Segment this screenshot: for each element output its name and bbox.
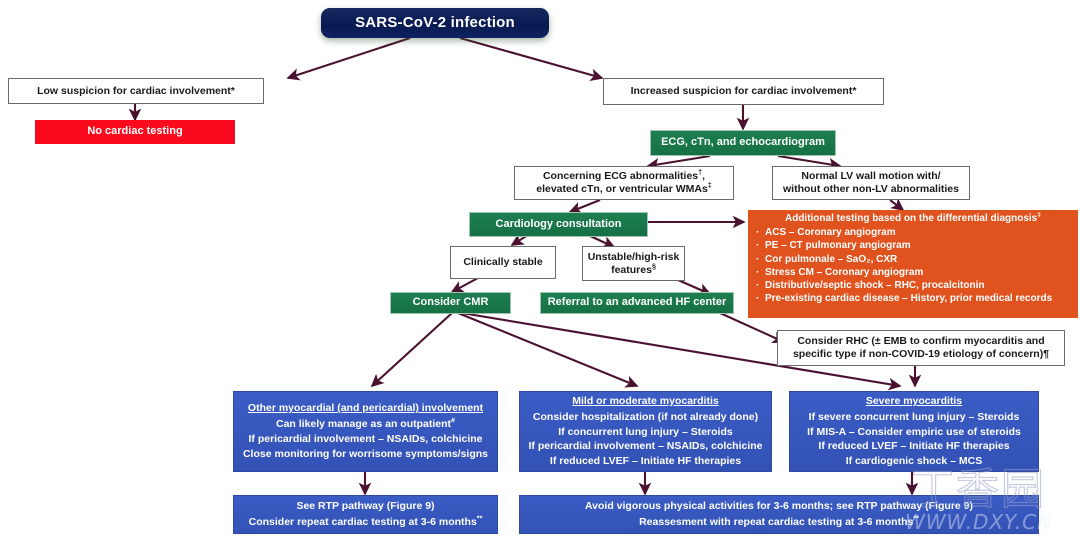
node-label-line2: If pericardial involvement – NSAIDs, col… [238,432,493,447]
arrow-stable-to-cmr [452,278,478,292]
node-unstable-high-risk-features[interactable]: Unstable/high-risk features§ [582,246,685,281]
node-additional-testing[interactable]: Additional testing based on the differen… [748,210,1078,318]
node-low-suspicion[interactable]: Low suspicion for cardiac involvement* [8,78,264,104]
node-label-line2: If MIS-A – Consider empiric use of stero… [794,425,1034,440]
node-label-line1: Can likely manage as an outpatient# [238,417,493,432]
node-label: No cardiac testing [35,125,235,138]
additional-testing-list: ACS – Coronary angiogram PE – CT pulmona… [754,226,1072,306]
node-label: Referral to an advanced HF center [541,296,733,309]
list-item: PE – CT pulmonary angiogram [756,239,1072,252]
node-rtp-pathway-right[interactable]: Avoid vigorous physical activities for 3… [519,495,1039,534]
node-concerning-ecg-abnormalities[interactable]: Concerning ECG abnormalities†, elevated … [514,166,734,200]
node-label-line2: Reassesment with repeat cardiac testing … [520,515,1038,531]
node-severe-myocarditis[interactable]: Severe myocarditis If severe concurrent … [789,391,1039,472]
node-label: Clinically stable [451,256,555,269]
node-label-line3: If pericardial involvement – NSAIDs, col… [524,439,767,454]
node-label-line1: Concerning ECG abnormalities†, [515,170,733,183]
arrow-ecg-to-concerning [648,156,710,166]
node-ecg-ctn-echo[interactable]: ECG, cTn, and echocardiogram [650,130,836,156]
arrow-ecg-to-normallv [778,156,840,166]
node-other-myocardial-involvement[interactable]: Other myocardial (and pericardial) invol… [233,391,498,472]
node-normal-lv-wall-motion[interactable]: Normal LV wall motion with/ without othe… [772,166,970,200]
node-mild-or-moderate-myocarditis[interactable]: Mild or moderate myocarditis Consider ho… [519,391,772,472]
node-no-cardiac-testing[interactable]: No cardiac testing [35,120,235,144]
node-label: Increased suspicion for cardiac involvem… [604,85,883,98]
node-label-line1: See RTP pathway (Figure 9) [234,499,497,515]
node-header: Other myocardial (and pericardial) invol… [238,401,493,416]
arrow-root-to-increased [460,38,602,78]
node-sars-cov-2-infection[interactable]: SARS-CoV-2 infection [321,8,549,38]
list-item: Cor pulmonale – SaO₂, CXR [756,253,1072,266]
node-clinically-stable[interactable]: Clinically stable [450,246,556,279]
node-label: Consider CMR [391,296,510,309]
node-consider-rhc-emb[interactable]: Consider RHC (± EMB to confirm myocardit… [777,330,1065,366]
node-label-line4: If cardiogenic shock – MCS [794,454,1034,469]
node-cardiology-consultation[interactable]: Cardiology consultation [469,212,648,237]
node-label-line2: elevated cTn, or ventricular WMAs‡ [515,183,733,196]
node-label-line2: without other non-LV abnormalities [773,183,969,196]
arrow-concerning-to-cardiology [570,200,600,212]
node-consider-cmr[interactable]: Consider CMR [390,292,511,314]
node-label-line1: Normal LV wall motion with/ [773,170,969,183]
arrow-cmr-to-other [372,313,452,386]
additional-testing-header: Additional testing based on the differen… [754,213,1072,225]
node-label-line1: Unstable/high-risk [583,251,684,264]
node-label: Cardiology consultation [470,218,647,231]
node-label-line1: Consider hospitalization (if not already… [524,410,767,425]
node-rtp-pathway-left[interactable]: See RTP pathway (Figure 9) Consider repe… [233,495,498,534]
node-label-line2: If concurrent lung injury – Steroids [524,425,767,440]
arrow-cmr-to-mild [458,313,637,386]
node-label-line2: specific type if non-COVID-19 etiology o… [778,348,1064,361]
arrow-normallv-to-additional [890,200,903,210]
node-label: ECG, cTn, and echocardiogram [651,136,835,149]
flowchart-canvas: SARS-CoV-2 infection Low suspicion for c… [0,0,1080,538]
list-item: Stress CM – Coronary angiogram [756,266,1072,279]
list-item: Pre-existing cardiac disease – History, … [756,292,1072,305]
node-label-line3: Close monitoring for worrisome symptoms/… [238,447,493,462]
node-label-line3: If reduced LVEF – Initiate HF therapies [794,439,1034,454]
arrow-root-to-low [288,38,410,78]
node-increased-suspicion[interactable]: Increased suspicion for cardiac involvem… [603,78,884,105]
node-label-line2: Consider repeat cardiac testing at 3-6 m… [234,515,497,531]
node-label: Low suspicion for cardiac involvement* [9,85,263,98]
list-item: ACS – Coronary angiogram [756,226,1072,239]
node-label-line1: Consider RHC (± EMB to confirm myocardit… [778,335,1064,348]
node-label-line1: Avoid vigorous physical activities for 3… [520,499,1038,515]
node-label-line2: features§ [583,264,684,277]
node-label: SARS-CoV-2 infection [321,14,549,32]
node-label-line1: If severe concurrent lung injury – Stero… [794,410,1034,425]
node-referral-advanced-hf-center[interactable]: Referral to an advanced HF center [540,292,734,314]
node-header: Mild or moderate myocarditis [524,394,767,409]
node-header: Severe myocarditis [794,394,1034,409]
list-item: Distributive/septic shock – RHC, procalc… [756,279,1072,292]
node-label-line4: If reduced LVEF – Initiate HF therapies [524,454,767,469]
